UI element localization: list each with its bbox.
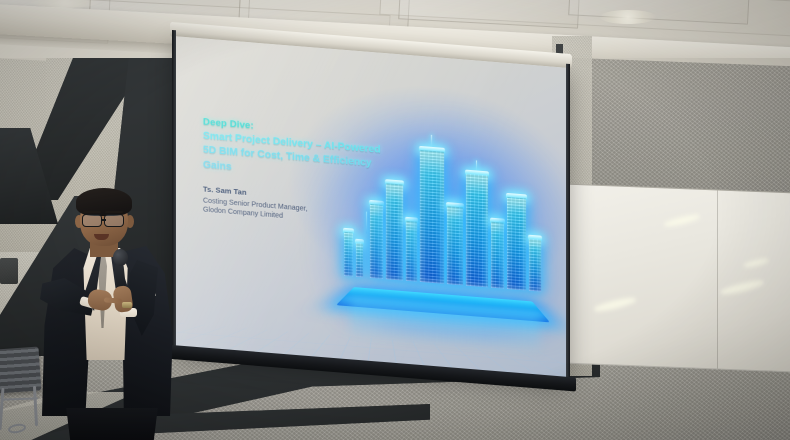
city-tower [507,197,526,291]
city-tower [447,206,463,285]
light-reflection [663,213,701,229]
presentation-slide: Deep Dive: Smart Project Delivery – AI-P… [176,36,566,377]
projection-screen[interactable]: Deep Dive: Smart Project Delivery – AI-P… [176,36,566,377]
ceiling-light [600,10,656,24]
light-reflection [719,278,765,297]
slide-text-block: Deep Dive: Smart Project Delivery – AI-P… [203,116,413,231]
city-tower [356,243,363,278]
tower-cap [446,202,464,208]
panel-seam [717,190,718,370]
tower-cap [490,218,505,224]
tower-cap [465,170,489,177]
wristwatch [122,302,132,308]
city-tower [529,239,541,292]
screen-surface: Deep Dive: Smart Project Delivery – AI-P… [176,36,566,377]
tower-cap [355,239,364,245]
city-tower [491,222,504,289]
eyeglasses-lens-right [104,214,124,227]
trousers [60,408,164,440]
tower-cap [528,235,542,241]
city-tower [420,150,444,284]
tower-cap [419,146,445,153]
eyeglasses-bridge [102,219,106,221]
conference-room-photo: Deep Dive: Smart Project Delivery – AI-P… [0,0,790,440]
city-tower [344,232,353,277]
light-reflection [593,295,638,313]
tower-cap [343,228,354,234]
stone-wall-panel [566,58,790,201]
light-reflection [743,257,770,269]
tower-cap [506,193,527,200]
screen-right-edge [566,64,570,382]
eyeglasses-lens-left [82,214,102,227]
glossy-wall-panel [566,184,790,373]
presenter [16,186,201,440]
city-tower [466,174,488,288]
